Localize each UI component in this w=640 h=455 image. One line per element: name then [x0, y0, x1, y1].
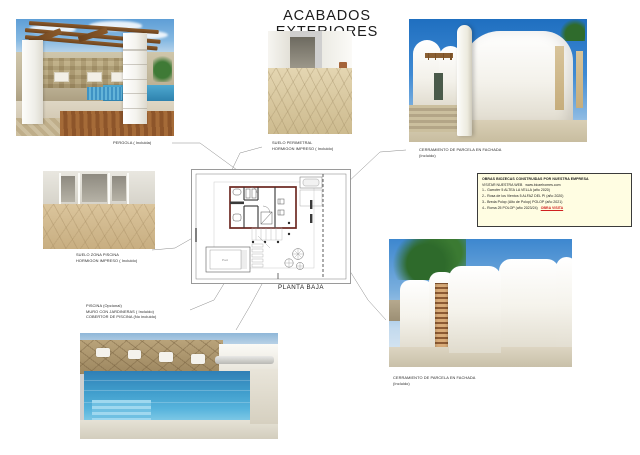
caption-cerramiento-bottom: CERRAMIENTO DE PARCELA EN FACHADA (Inclu…: [393, 375, 513, 386]
infobox-highlight-badge: OBRA VISITA: [541, 206, 563, 210]
infobox-web-url[interactable]: www.biozehomes.com: [525, 183, 560, 187]
perimeter-stamped-concrete-photo: [268, 31, 352, 134]
swimming-pool-photo: [80, 333, 278, 439]
company-info-box: OBRAS BIOZECAS CONSTRUIDAS POR NUESTRA E…: [477, 173, 632, 227]
pool-area-floor-photo: [43, 171, 155, 249]
caption-suelo-perimetral: SUELO PERIMETRAL HORMIGON IMPRESO ( Incl…: [272, 140, 350, 151]
front-boundary-wall-photo: [409, 19, 587, 142]
drawing-sheet: ACABADOS EXTERIORES PERGOLA ( Incluida): [0, 0, 640, 455]
caption-piscina: PISCINA (Opcional) MURO CON JARDINERAS (…: [86, 303, 186, 320]
infobox-item: 4.- Roma 25 POLOP (año 2023/24): [482, 206, 538, 210]
infobox-web-label: VISITAR NUESTRA WEB: [482, 183, 522, 187]
floor-plan-planta-baja: Pool: [191, 169, 351, 284]
svg-text:Pool: Pool: [222, 258, 228, 262]
caption-suelo-zona-piscina: SUELO ZONA PISCINA HORMIGON IMPRESO ( In…: [76, 252, 156, 263]
caption-cerramiento-top: CERRAMIENTO DE PARCELA EN FACHADA (Inclu…: [419, 147, 539, 158]
plan-label-planta-baja: PLANTA BAJA: [256, 284, 346, 291]
caption-pergola: PERGOLA ( Incluida): [113, 140, 183, 146]
pergola-photo: [16, 19, 174, 136]
boundary-wall-lattice-photo: [389, 239, 572, 367]
